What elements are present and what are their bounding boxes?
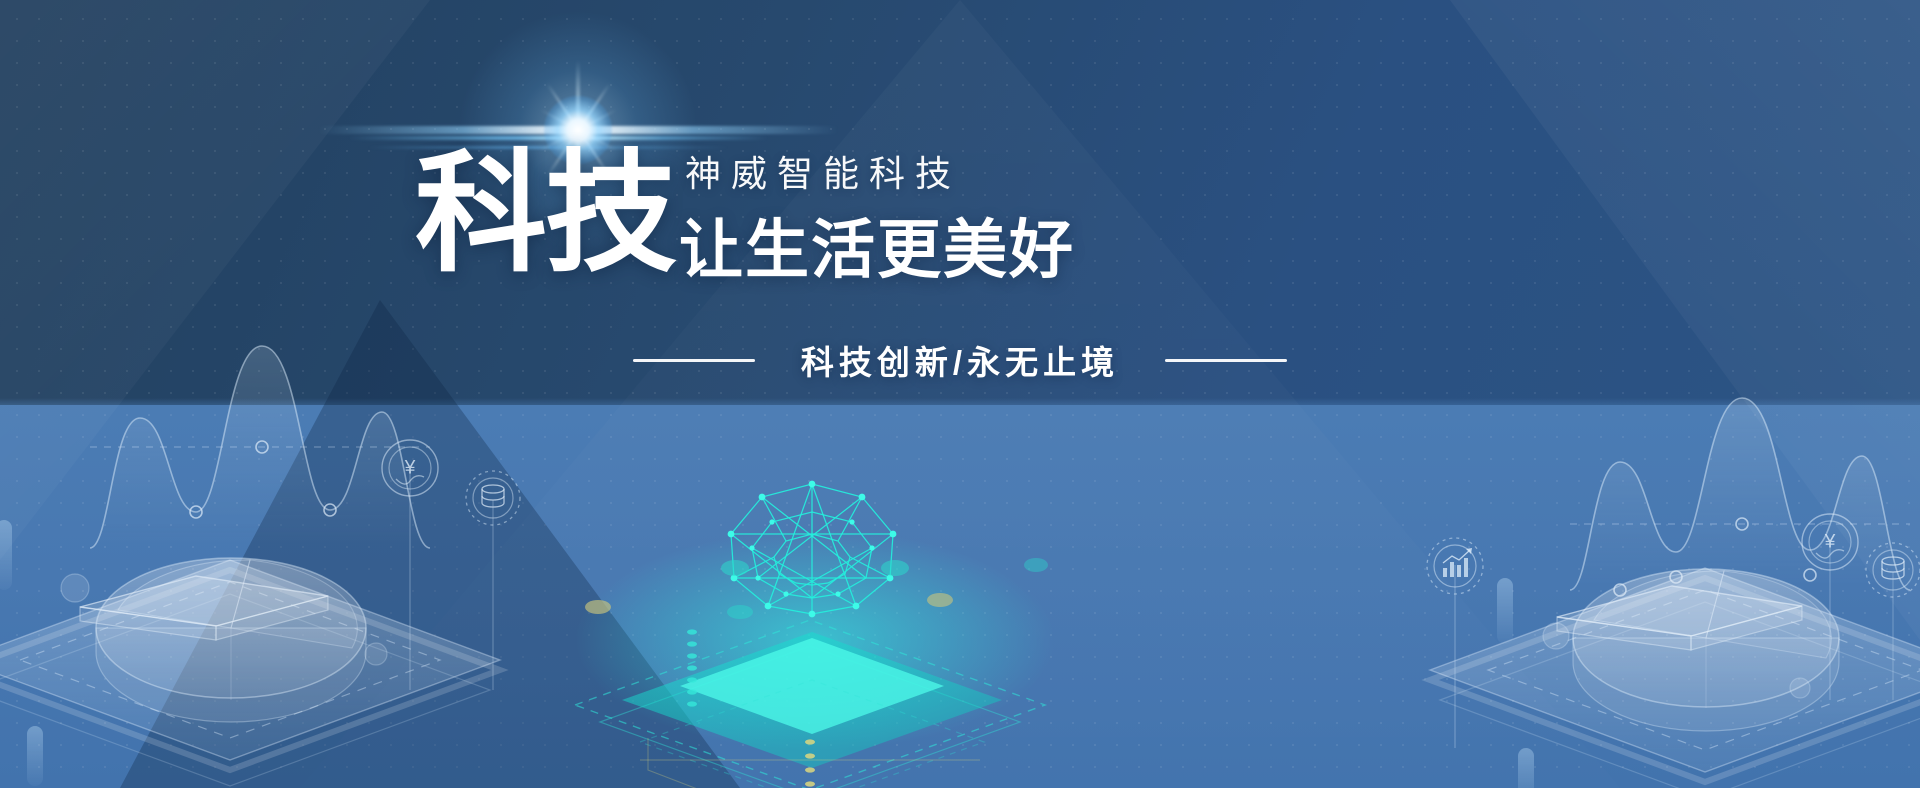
headline-right-column: 神威智能科技 让生活更美好: [671, 148, 1075, 282]
hero-text-block: 科技 神威智能科技 让生活更美好 科技创新/永无止境: [0, 0, 1920, 420]
banner-root: ¥: [0, 0, 1920, 788]
tagline-row: 科技创新/永无止境: [0, 336, 1920, 384]
tagline-rule-left: [633, 359, 755, 362]
tagline: 科技创新/永无止境: [801, 336, 1119, 384]
page-title: 科技: [415, 148, 675, 280]
headline-subtitle: 让生活更美好: [679, 218, 1075, 282]
tagline-rule-right: [1165, 359, 1287, 362]
company-name: 神威智能科技: [685, 156, 1075, 192]
headline-row: 科技 神威智能科技 让生活更美好: [415, 148, 1075, 282]
